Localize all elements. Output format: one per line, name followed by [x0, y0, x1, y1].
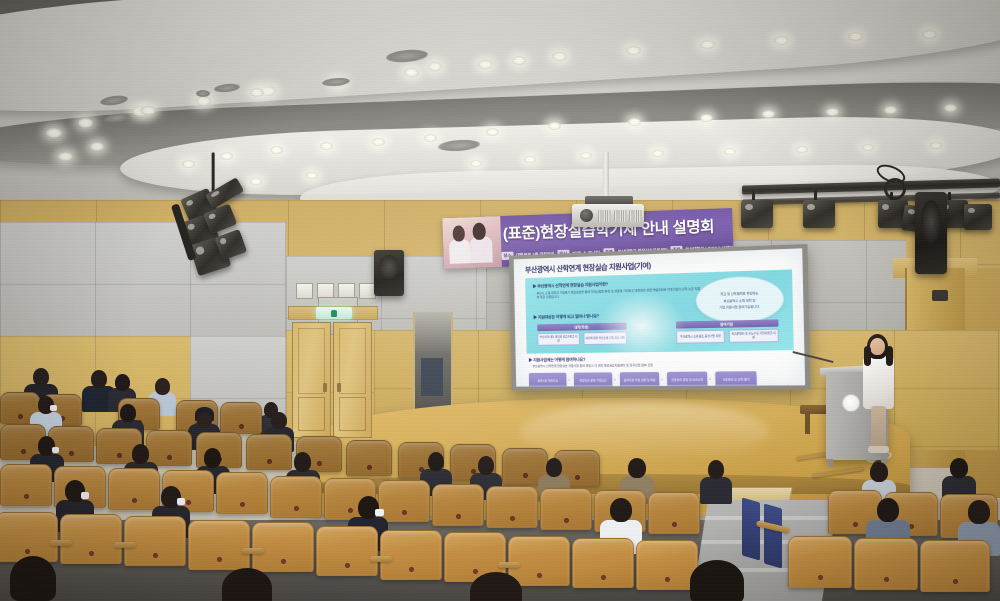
ceiling-downlight — [922, 30, 937, 39]
ceiling-downlight — [826, 108, 839, 116]
auditorium-seat — [60, 514, 122, 564]
auditorium-seat — [346, 440, 392, 476]
seat-armrest — [242, 548, 264, 554]
person-head — [38, 436, 55, 456]
presenter-hair-side — [886, 346, 893, 366]
oval-line-2: 부산광역시 소재 대학 및 — [723, 297, 755, 303]
ceiling-speaker — [374, 250, 404, 296]
ceiling-downlight — [848, 32, 863, 41]
door-handle[interactable] — [337, 383, 341, 392]
auditorium-seat — [0, 512, 58, 562]
person-head — [33, 368, 49, 386]
auditorium-seat — [572, 538, 634, 588]
presentation-slide: 부산광역시 산학연계 현장실습 지원사업(기여) ▶ 부산광역시 산학연계 현장… — [514, 248, 805, 386]
slide-col-cell: 부산광역시 소재 중소·중견기업 지원 — [676, 330, 725, 344]
light-yoke — [212, 153, 215, 193]
auditorium-seat — [432, 484, 484, 526]
projector-vent — [614, 210, 627, 222]
ceiling-downlight — [626, 46, 641, 55]
slide-col-cell: 타지역 대학 부산소재 기업 실습 지원 — [583, 332, 627, 346]
oval-line-3: 기업 지원사업 참여가능합니다. — [719, 303, 760, 309]
stage-light-cluster-left — [180, 182, 262, 283]
running-man-icon — [331, 310, 337, 317]
ceiling-downlight — [552, 52, 567, 61]
ceiling-downlight — [478, 60, 493, 69]
ceiling-downlight — [580, 152, 592, 159]
ceiling-downlight — [762, 110, 775, 118]
face-mask — [50, 405, 57, 411]
ceiling-recessed-fixture — [196, 90, 210, 97]
person-head — [610, 498, 632, 522]
stage-light — [964, 204, 992, 230]
ceiling-downlight — [250, 88, 264, 97]
auditorium-seat — [920, 540, 990, 592]
person-head — [155, 378, 170, 395]
presenter-hair-side — [864, 346, 871, 366]
slide-flow-sub: 3~4월 — [529, 385, 567, 386]
flow-arrow-icon: › — [709, 378, 711, 383]
auditorium-seat — [188, 520, 250, 570]
auditorium-seat — [540, 488, 592, 530]
ceiling-downlight — [250, 178, 262, 185]
ceiling-downlight — [796, 146, 808, 153]
banner-photo-graphic — [442, 216, 502, 269]
slide-question-1: ▶ 부산광역시 산학연계 현장실습 지원사업이란? — [533, 281, 608, 289]
presenter — [862, 334, 896, 462]
slide-cyan-section: ▶ 부산광역시 산학연계 현장실습 지원사업이란? 부산시 소재 대학과 기업체… — [525, 269, 794, 353]
podium-leg — [828, 459, 833, 467]
slide-col-cell: 부산지역 대학 재학생 실습지원금 지원 — [537, 332, 580, 345]
slide-flow-sub: 4~5월 — [574, 385, 612, 386]
ceiling-downlight — [774, 36, 789, 45]
person-head — [204, 448, 221, 468]
seat-armrest — [370, 556, 392, 562]
slide-question-2: ▶ 지원대상은 어떻게 되고 얼마나 받나요? — [533, 313, 599, 320]
stage-side-doorway[interactable] — [413, 312, 453, 420]
oval-line-1: 학교 및 산학협력을 희망하는 — [720, 290, 758, 296]
person-head — [470, 572, 522, 601]
slide-flow-sub: 9월 — [716, 385, 757, 387]
door-leaf-right[interactable] — [333, 322, 372, 438]
auditorium-photo: (표준)현장실습학기제 안내 설명회 장소 대학본부 3층 대회의실 일시 20… — [0, 0, 1000, 601]
audience-member-foreground — [222, 568, 272, 601]
person-head — [877, 498, 899, 522]
ceiling-downlight — [306, 172, 318, 179]
ceiling-downlight — [220, 152, 233, 160]
face-mask — [81, 492, 89, 499]
presenter-head — [870, 338, 885, 355]
auditorium-seat — [854, 538, 918, 590]
face-mask — [52, 447, 59, 453]
slide-flow-sub: 5~6월 — [620, 385, 659, 387]
ceiling-downlight — [270, 146, 283, 154]
projector-lens-icon — [580, 209, 593, 222]
slide-flow-sub: 6~8월 — [667, 385, 707, 387]
person-head — [870, 462, 888, 482]
stage-light — [803, 200, 835, 228]
person-head — [115, 374, 130, 391]
seat-armrest — [114, 542, 136, 548]
auditorium-exit-door[interactable] — [292, 318, 374, 438]
exit-sign-icon — [316, 307, 352, 319]
projector-vent — [598, 210, 611, 222]
person-head — [294, 452, 311, 472]
flow-arrow-icon: › — [568, 379, 570, 384]
face-mask — [177, 498, 185, 505]
podium-emblem-icon — [842, 394, 860, 412]
line-array-speaker — [915, 192, 947, 274]
ceiling-downlight — [46, 128, 62, 138]
banner-figure-head — [472, 223, 486, 240]
person-head — [271, 412, 287, 429]
auditorium-seat — [220, 402, 262, 434]
ceiling-downlight — [930, 142, 942, 149]
ceiling-downlight — [486, 128, 499, 136]
auditorium-seat — [486, 486, 538, 528]
audience-member-foreground — [470, 572, 522, 601]
auditorium-seat — [788, 536, 852, 588]
auditorium-seat — [216, 472, 268, 514]
wall-camera-icon — [932, 290, 948, 301]
person-head — [428, 452, 444, 471]
slide-col-cell: 실습운영비 및 지도수당 기업지원금 지원 — [729, 329, 779, 343]
ceiling-downlight — [524, 156, 536, 163]
flow-arrow-icon: › — [661, 378, 663, 383]
projector-vent — [629, 210, 642, 222]
ceiling-downlight — [884, 106, 897, 114]
person-head — [708, 460, 724, 479]
ceiling-downlight — [700, 40, 715, 49]
banner-figure-head — [452, 225, 465, 241]
audience-member-foreground — [690, 560, 744, 601]
ceiling-downlight — [78, 118, 93, 128]
stage-light — [741, 200, 773, 228]
auditorium-seat — [0, 464, 52, 506]
auditorium-seat — [316, 526, 378, 576]
ceiling-downlight — [944, 104, 957, 112]
ceiling-downlight — [862, 144, 874, 151]
ceiling-downlight — [652, 150, 664, 157]
ceiling-downlight — [428, 62, 442, 71]
slide-question-3: ▶ 지원사업에는 어떻게 참여하나요? — [529, 357, 586, 363]
slide-oval-callout: 학교 및 산학협력을 희망하는 부산광역시 소재 대학 및 기업 지원사업 참여… — [695, 275, 785, 324]
ceiling-downlight — [424, 134, 437, 142]
person-body — [700, 477, 732, 504]
person-head — [690, 560, 744, 601]
person-head — [222, 568, 272, 601]
banner-figure-body — [470, 236, 493, 263]
audience-member — [700, 460, 732, 502]
projection-screen: 부산광역시 산학연계 현장실습 지원사업(기여) ▶ 부산광역시 산학연계 현장… — [509, 244, 811, 391]
person-head — [950, 458, 968, 478]
person-head — [478, 456, 494, 475]
auditorium-seat — [636, 540, 698, 590]
ceiling-downlight — [90, 142, 104, 151]
person-head — [968, 500, 990, 524]
presenter-legs — [871, 406, 886, 448]
ceiling-projector — [572, 204, 644, 227]
person-head — [628, 458, 646, 478]
auditorium-seat — [124, 516, 186, 566]
stage-bench-leg — [805, 412, 810, 434]
audience-member-foreground — [10, 556, 56, 601]
auditorium-seat — [270, 476, 322, 518]
person-head — [10, 556, 56, 601]
person-head — [197, 412, 212, 428]
ceiling-downlight — [320, 142, 333, 150]
wall-notice — [296, 283, 313, 299]
person-head — [132, 444, 149, 464]
door-leaf-left[interactable] — [292, 322, 331, 438]
auditorium-seat — [648, 492, 700, 534]
slide-col-header-1: 참여기업 — [676, 319, 779, 328]
seat-row-end-panel — [764, 503, 782, 568]
ceiling-downlight — [140, 106, 156, 115]
ceiling-downlight — [628, 118, 641, 126]
ceiling-downlight — [182, 160, 195, 168]
ceiling-downlight — [512, 56, 526, 65]
slide-col-header-0: 대학(학생) — [537, 323, 627, 332]
person-head — [91, 370, 107, 388]
ceiling-downlight — [372, 138, 385, 146]
ceiling-downlight — [470, 160, 482, 167]
ceiling-downlight — [196, 96, 211, 106]
ceiling-downlight — [700, 114, 713, 122]
person-head — [546, 458, 562, 477]
face-mask — [375, 509, 384, 516]
banner-figure-body — [449, 239, 471, 264]
auditorium-seat — [252, 522, 314, 572]
seat-row-end-panel — [742, 497, 760, 560]
person-head — [120, 404, 136, 422]
ceiling-downlight — [724, 148, 736, 155]
ceiling-downlight — [404, 68, 419, 77]
seat-armrest — [50, 540, 72, 546]
ceiling-downlight — [548, 122, 561, 130]
door-handle[interactable] — [323, 383, 327, 392]
flow-arrow-icon: › — [614, 378, 616, 383]
seat-armrest — [498, 562, 520, 568]
auditorium-seat — [380, 530, 442, 580]
presenter-shoes — [868, 446, 889, 453]
ceiling-downlight — [58, 152, 73, 161]
